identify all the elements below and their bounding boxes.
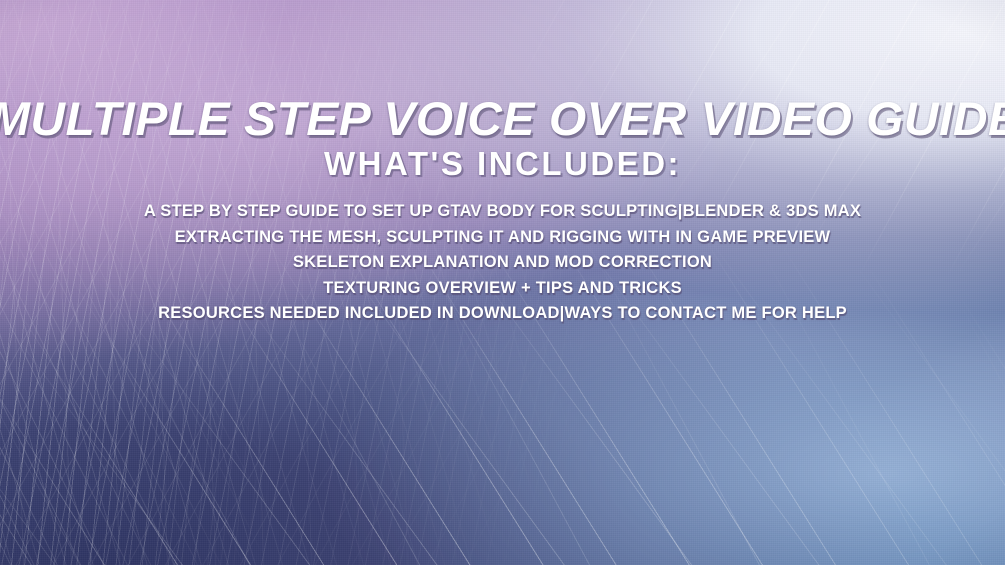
list-item: EXTRACTING THE MESH, SCULPTING IT AND RI…	[0, 225, 1005, 251]
list-item: RESOURCES NEEDED INCLUDED IN DOWNLOAD|WA…	[0, 301, 1005, 327]
promo-poster: MULTIPLE STEP VOICE OVER VIDEO GUIDE WHA…	[0, 0, 1005, 565]
included-list: A STEP BY STEP GUIDE TO SET UP GTAV BODY…	[0, 199, 1005, 327]
poster-subheading: WHAT'S INCLUDED:	[0, 147, 1005, 180]
poster-content: MULTIPLE STEP VOICE OVER VIDEO GUIDE WHA…	[0, 0, 1005, 565]
list-item: SKELETON EXPLANATION AND MOD CORRECTION	[0, 250, 1005, 276]
list-item: A STEP BY STEP GUIDE TO SET UP GTAV BODY…	[0, 199, 1005, 225]
poster-headline: MULTIPLE STEP VOICE OVER VIDEO GUIDE	[0, 95, 1005, 142]
list-item: TEXTURING OVERVIEW + TIPS AND TRICKS	[0, 276, 1005, 302]
